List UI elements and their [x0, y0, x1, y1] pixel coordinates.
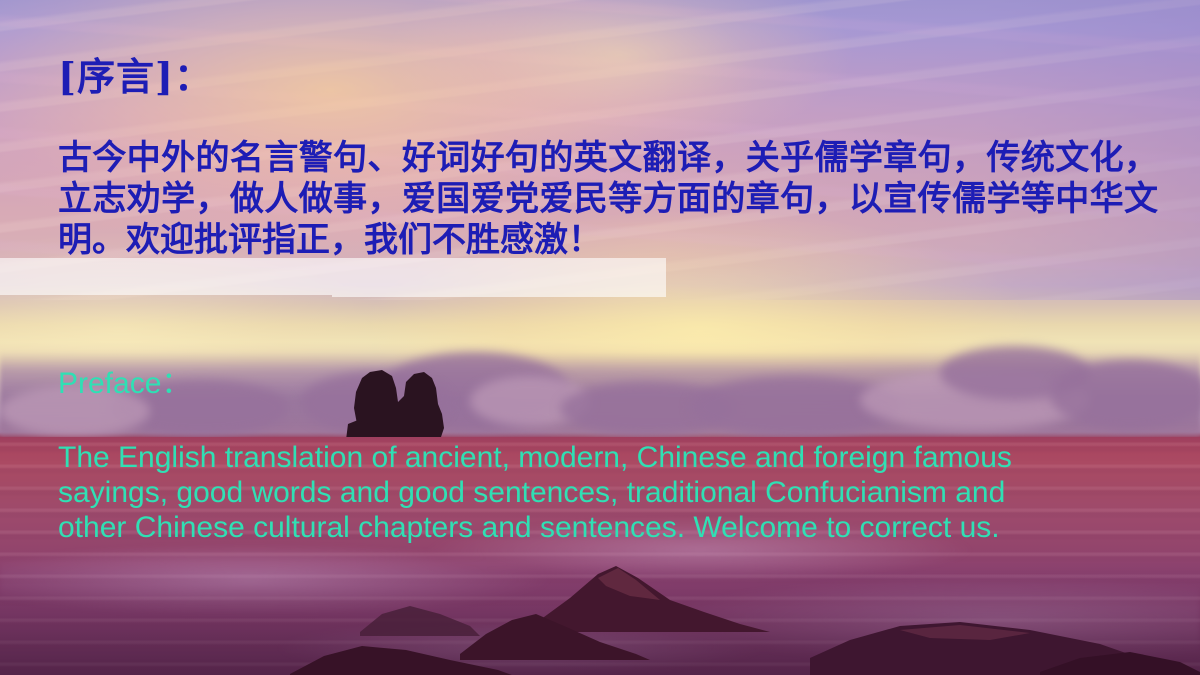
foreground-rock — [290, 636, 520, 675]
text-placeholder-plate-right — [332, 258, 666, 297]
foreground-rock — [360, 592, 480, 636]
foreground-rock — [1040, 638, 1200, 675]
chinese-body-text: 古今中外的名言警句、好词好句的英文翻译，关乎儒学章句，传统文化，立志劝学，做人做… — [58, 138, 1158, 261]
english-heading: Preface： — [58, 358, 191, 402]
chinese-heading: [序言]： — [58, 46, 213, 101]
presentation-slide: [序言]： 古今中外的名言警句、好词好句的英文翻译，关乎儒学章句，传统文化，立志… — [0, 0, 1200, 675]
text-placeholder-plate-left — [0, 258, 332, 295]
rock-island-silhouette — [336, 362, 466, 442]
english-body-text: The English translation of ancient, mode… — [58, 440, 1078, 545]
cloud-puff — [1050, 360, 1200, 430]
